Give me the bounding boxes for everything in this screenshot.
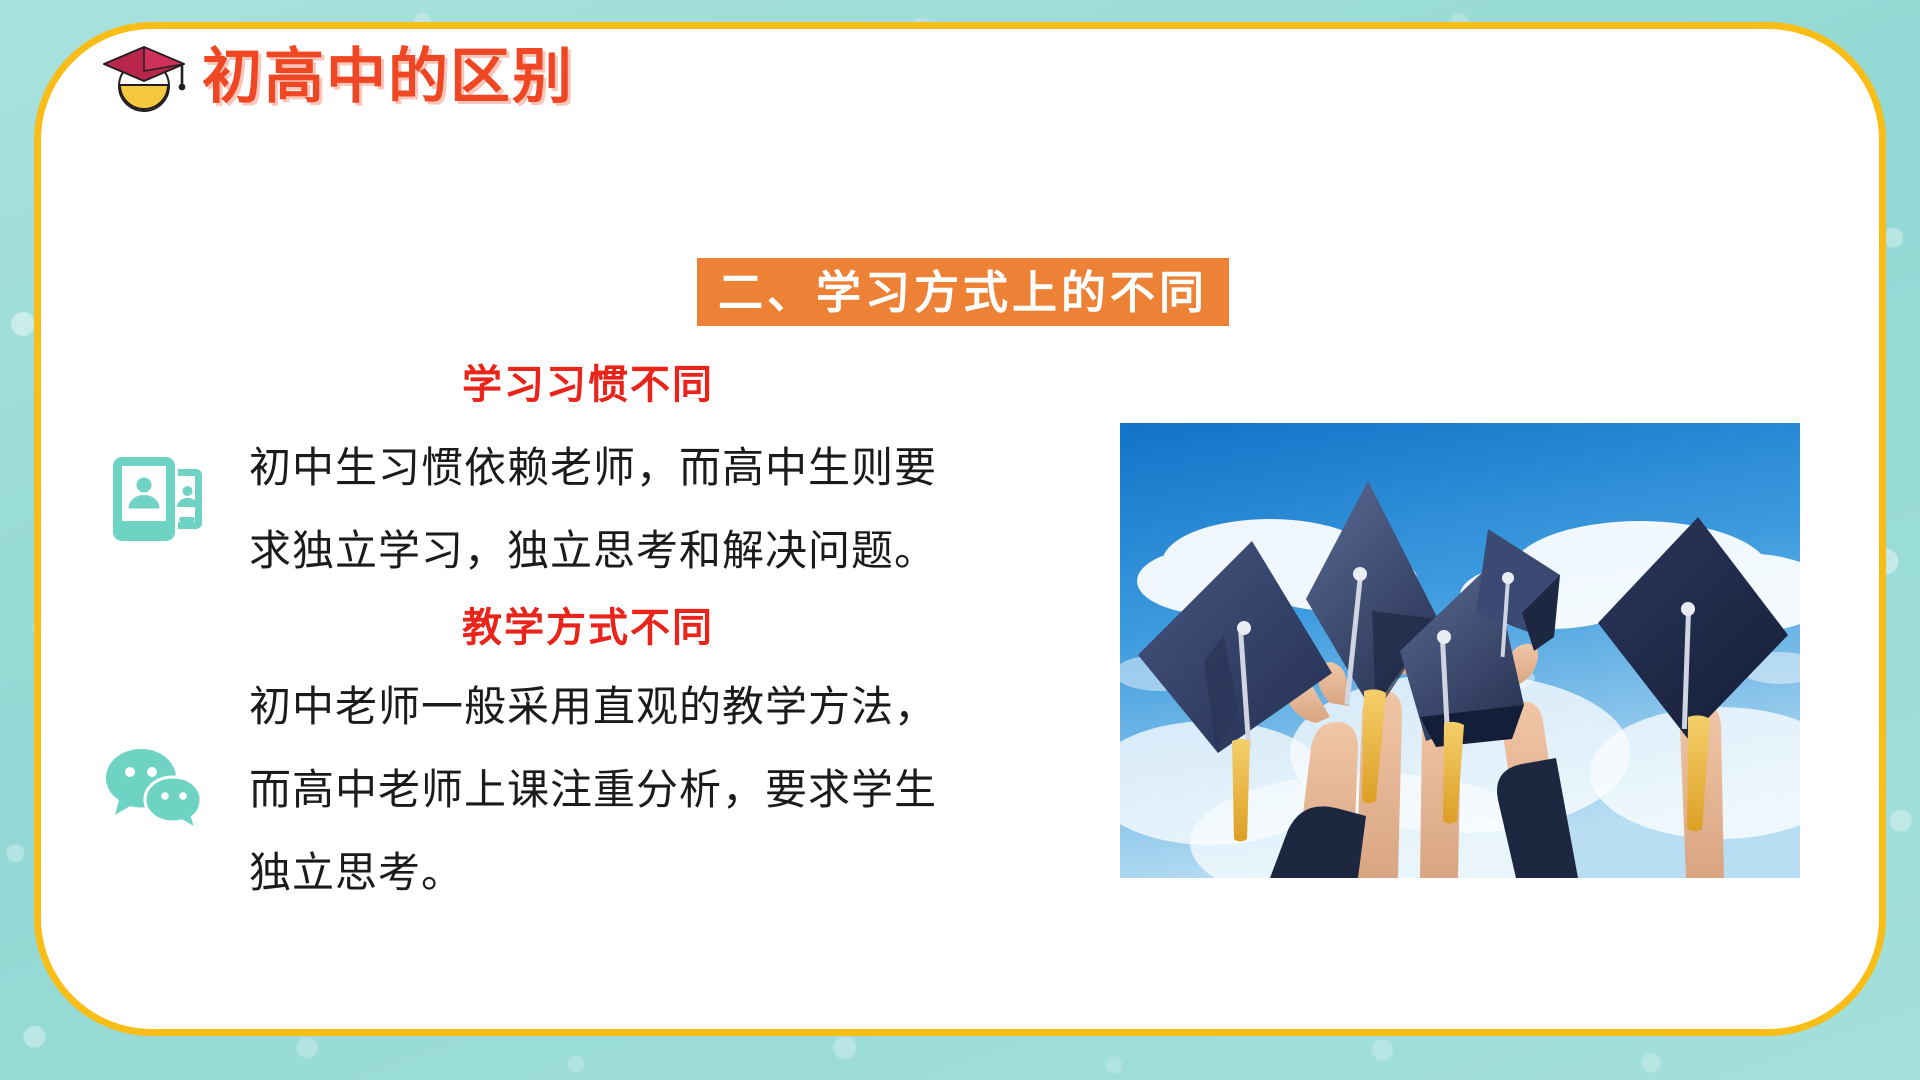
body-paragraph-study-habits: 初中生习惯依赖老师，而高中生则要 求独立学习，独立思考和解决问题。 xyxy=(249,426,1079,592)
chat-bubbles-icon xyxy=(104,745,202,833)
graduation-photo xyxy=(1120,423,1800,878)
sub-heading-study-habits: 学习习惯不同 xyxy=(462,365,714,405)
body-line: 初中老师一般采用直观的教学方法， xyxy=(249,665,1079,748)
video-call-icon xyxy=(108,455,204,543)
graduation-cap-icon xyxy=(96,39,188,115)
body-line: 而高中老师上课注重分析，要求学生 xyxy=(249,748,1079,831)
section-banner-label: 二、学习方式上的不同 xyxy=(718,270,1208,315)
body-paragraph-teaching-method: 初中老师一般采用直观的教学方法， 而高中老师上课注重分析，要求学生 独立思考。 xyxy=(249,665,1079,914)
sub-heading-teaching-method: 教学方式不同 xyxy=(462,608,714,648)
body-line: 独立思考。 xyxy=(249,831,1079,914)
body-line: 求独立学习，独立思考和解决问题。 xyxy=(249,509,1079,592)
graduation-photo-illustration xyxy=(1120,423,1800,878)
slide-header: 初高中的区别 xyxy=(96,36,574,118)
section-banner: 二、学习方式上的不同 xyxy=(697,258,1229,326)
slide-root: 初高中的区别 二、学习方式上的不同 学习习惯不同 初中生习惯依赖 xyxy=(0,0,1920,1080)
body-line: 初中生习惯依赖老师，而高中生则要 xyxy=(249,426,1079,509)
page-title: 初高中的区别 xyxy=(202,47,574,107)
